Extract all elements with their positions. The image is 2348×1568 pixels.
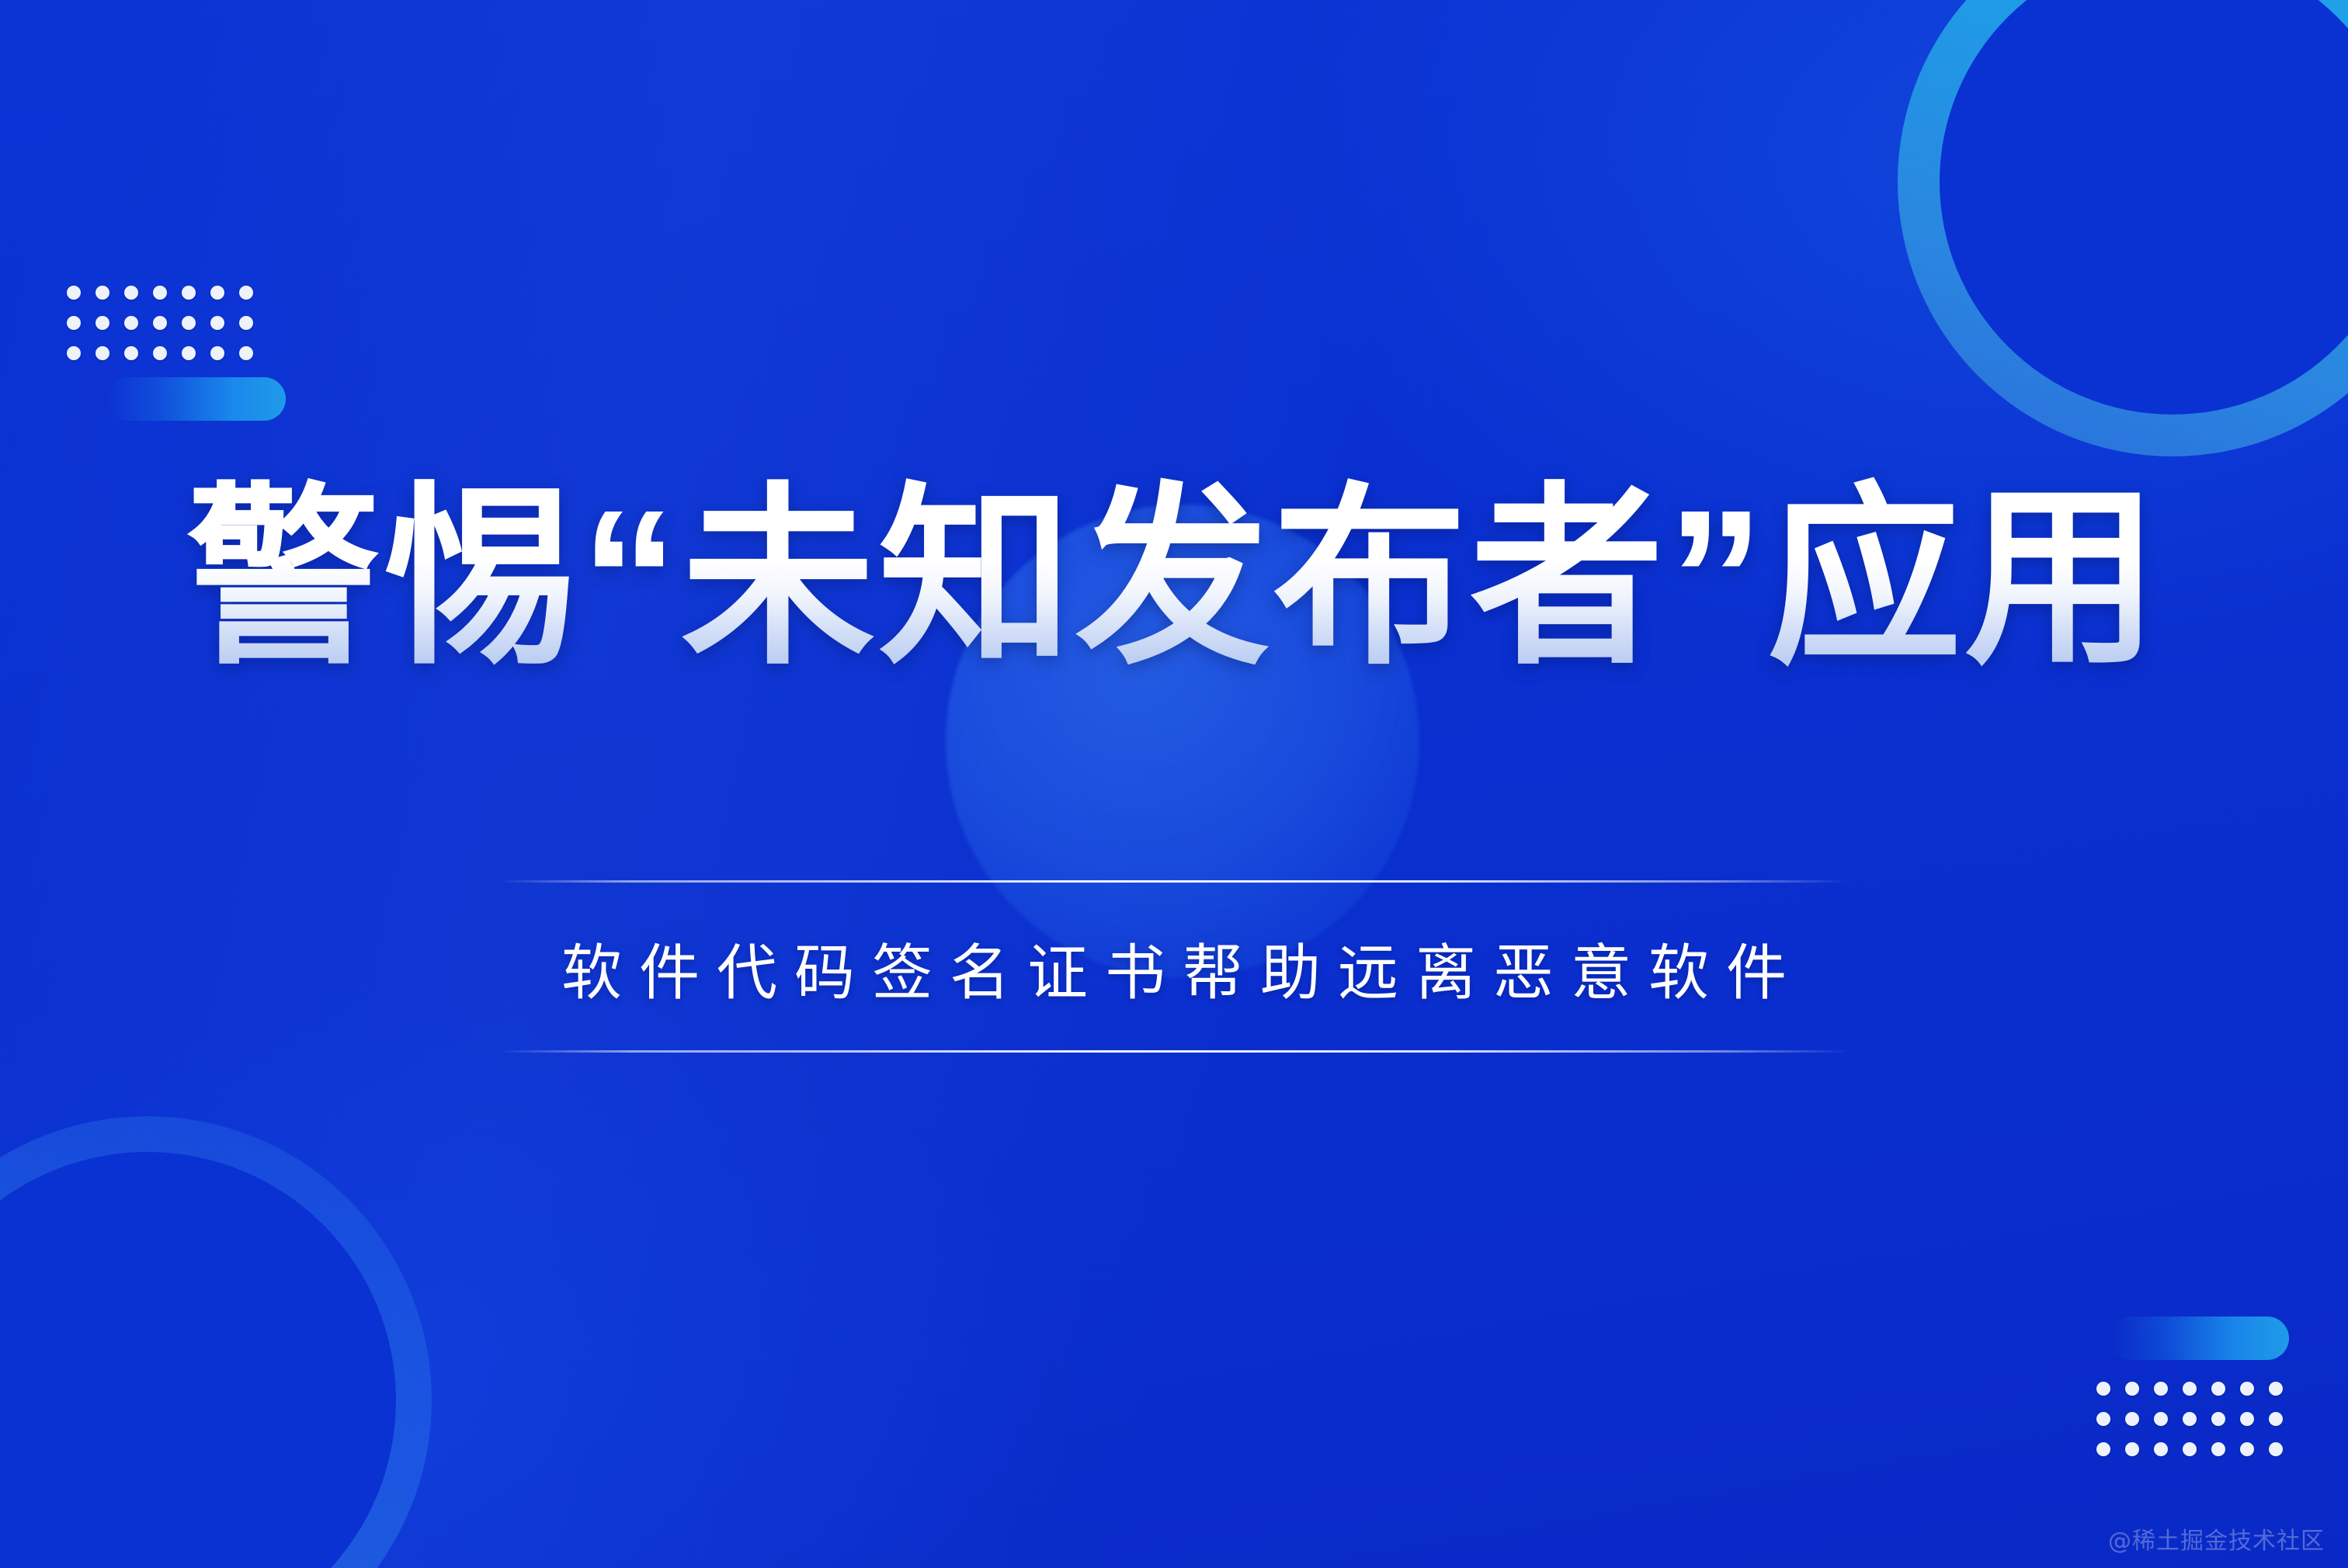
poster-content: 警惕“未知发布者”应用 软件代码签名证书帮助远离恶意软件 [0, 0, 2348, 1568]
divider-below-subtitle [498, 1050, 1850, 1053]
poster-canvas: 警惕“未知发布者”应用 软件代码签名证书帮助远离恶意软件 @稀土掘金技术社区 [0, 0, 2348, 1568]
subtitle-text: 软件代码签名证书帮助远离恶意软件 [544, 883, 1804, 1050]
watermark-label: @稀土掘金技术社区 [2108, 1521, 2325, 1556]
headline-title: 警惕“未知发布者”应用 [0, 475, 2348, 681]
